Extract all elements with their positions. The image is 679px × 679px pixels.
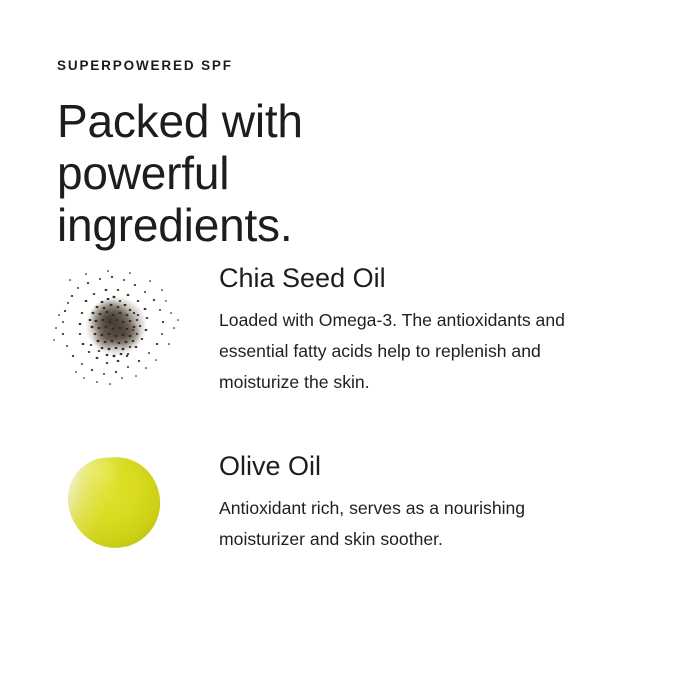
ingredient-media (0, 262, 219, 402)
ingredient-description: Antioxidant rich, serves as a nourishing… (219, 493, 611, 555)
eyebrow-label: SUPERPOWERED SPF (57, 58, 617, 74)
ingredient-item: Olive Oil Antioxidant rich, serves as a … (0, 450, 679, 590)
ingredient-title: Chia Seed Oil (219, 262, 621, 294)
header: SUPERPOWERED SPF Packed with powerful in… (57, 58, 617, 251)
ingredient-media (0, 450, 219, 590)
product-ingredients-panel: SUPERPOWERED SPF Packed with powerful in… (0, 0, 679, 679)
ingredient-description: Loaded with Omega-3. The antioxidants an… (219, 305, 611, 398)
ingredient-title: Olive Oil (219, 450, 621, 482)
page-title: Packed with powerful ingredients. (57, 95, 477, 251)
chia-seeds-image (50, 268, 184, 390)
ingredient-copy: Olive Oil Antioxidant rich, serves as a … (219, 450, 679, 555)
olive-oil-droplet-image (63, 455, 163, 555)
ingredient-copy: Chia Seed Oil Loaded with Omega-3. The a… (219, 262, 679, 398)
ingredient-item: Chia Seed Oil Loaded with Omega-3. The a… (0, 262, 679, 402)
